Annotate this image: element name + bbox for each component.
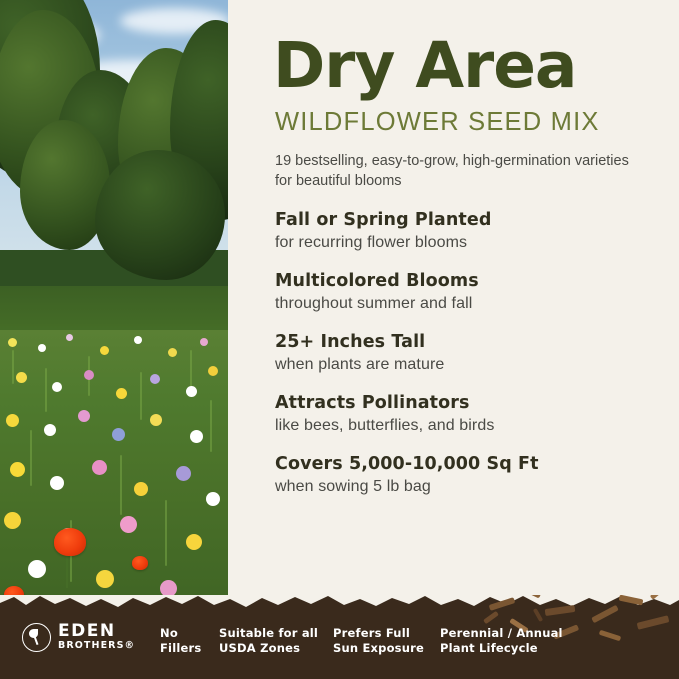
eden-brothers-logo[interactable]: EDEN BROTHERS® xyxy=(22,623,147,652)
logo-brand-sub: BROTHERS® xyxy=(58,640,135,652)
flower xyxy=(50,476,64,490)
flower xyxy=(10,462,25,477)
footer-item-line2: Fillers xyxy=(160,641,201,656)
flower xyxy=(186,534,202,550)
feature-item: 25+ Inches Tall when plants are mature xyxy=(275,332,649,374)
product-details-panel: Dry Area WILDFLOWER SEED MIX 19 bestsell… xyxy=(228,0,679,613)
footer-item-line2: Sun Exposure xyxy=(333,641,424,656)
meadow-photo xyxy=(0,0,228,613)
flower xyxy=(96,570,114,588)
flower xyxy=(190,430,203,443)
flower xyxy=(100,346,109,355)
grass xyxy=(12,350,14,384)
flower xyxy=(4,512,21,529)
product-subtitle: WILDFLOWER SEED MIX xyxy=(275,108,649,137)
footer-item-line1: Perennial / Annual xyxy=(440,626,563,641)
feature-item: Multicolored Blooms throughout summer an… xyxy=(275,271,649,313)
feature-heading: Multicolored Blooms xyxy=(275,271,649,291)
grass xyxy=(140,372,142,420)
grass xyxy=(30,430,32,486)
flower xyxy=(112,428,125,441)
flower xyxy=(168,348,177,357)
flower xyxy=(28,560,46,578)
flower xyxy=(176,466,191,481)
feature-item: Fall or Spring Planted for recurring flo… xyxy=(275,210,649,252)
page-title: Dry Area xyxy=(273,34,649,98)
flower xyxy=(150,414,162,426)
grass xyxy=(210,400,212,452)
flower xyxy=(38,344,46,352)
feature-subtext: for recurring flower blooms xyxy=(275,234,649,252)
flower xyxy=(16,372,27,383)
flower xyxy=(134,482,148,496)
grass xyxy=(120,455,122,515)
grass xyxy=(45,368,47,412)
logo-brand-main: EDEN xyxy=(58,623,135,640)
flower xyxy=(116,388,127,399)
flower xyxy=(150,374,160,384)
logo-text: EDEN BROTHERS® xyxy=(58,623,135,652)
feature-subtext: like bees, butterflies, and birds xyxy=(275,417,649,435)
footer-item-lifecycle: Perennial / Annual Plant Lifecycle xyxy=(440,626,563,656)
flower xyxy=(78,410,90,422)
flower xyxy=(186,386,197,397)
footer-item-sun: Prefers Full Sun Exposure xyxy=(333,626,424,656)
footer-item-fillers: No Fillers xyxy=(160,626,201,656)
footer-item-line1: Prefers Full xyxy=(333,626,424,641)
grass xyxy=(190,350,192,388)
flower xyxy=(134,336,142,344)
feature-heading: Fall or Spring Planted xyxy=(275,210,649,230)
flower xyxy=(92,460,107,475)
flower xyxy=(200,338,208,346)
footer-item-zones: Suitable for all USDA Zones xyxy=(219,626,318,656)
flower xyxy=(84,370,94,380)
poppy-flower xyxy=(54,528,86,556)
poppy-flower xyxy=(132,556,148,570)
flower xyxy=(66,334,73,341)
feature-subtext: when sowing 5 lb bag xyxy=(275,478,649,496)
feature-subtext: throughout summer and fall xyxy=(275,295,649,313)
flower xyxy=(8,338,17,347)
tree xyxy=(95,150,225,280)
flower xyxy=(208,366,218,376)
footer-item-line1: No xyxy=(160,626,201,641)
feature-heading: Attracts Pollinators xyxy=(275,393,649,413)
grass xyxy=(165,500,167,566)
feature-item: Covers 5,000-10,000 Sq Ft when sowing 5 … xyxy=(275,454,649,496)
feature-heading: 25+ Inches Tall xyxy=(275,332,649,352)
flower xyxy=(52,382,62,392)
feature-item: Attracts Pollinators like bees, butterfl… xyxy=(275,393,649,435)
flower xyxy=(44,424,56,436)
flower xyxy=(120,516,137,533)
product-infographic: Dry Area WILDFLOWER SEED MIX 19 bestsell… xyxy=(0,0,679,679)
treeline xyxy=(0,0,228,330)
flower xyxy=(6,414,19,427)
flower xyxy=(206,492,220,506)
leaf-icon xyxy=(22,623,51,652)
feature-subtext: when plants are mature xyxy=(275,356,649,374)
product-description: 19 bestselling, easy-to-grow, high-germi… xyxy=(275,151,635,191)
footer-item-line2: Plant Lifecycle xyxy=(440,641,563,656)
footer-item-line2: USDA Zones xyxy=(219,641,318,656)
feature-heading: Covers 5,000-10,000 Sq Ft xyxy=(275,454,649,474)
footer-item-line1: Suitable for all xyxy=(219,626,318,641)
